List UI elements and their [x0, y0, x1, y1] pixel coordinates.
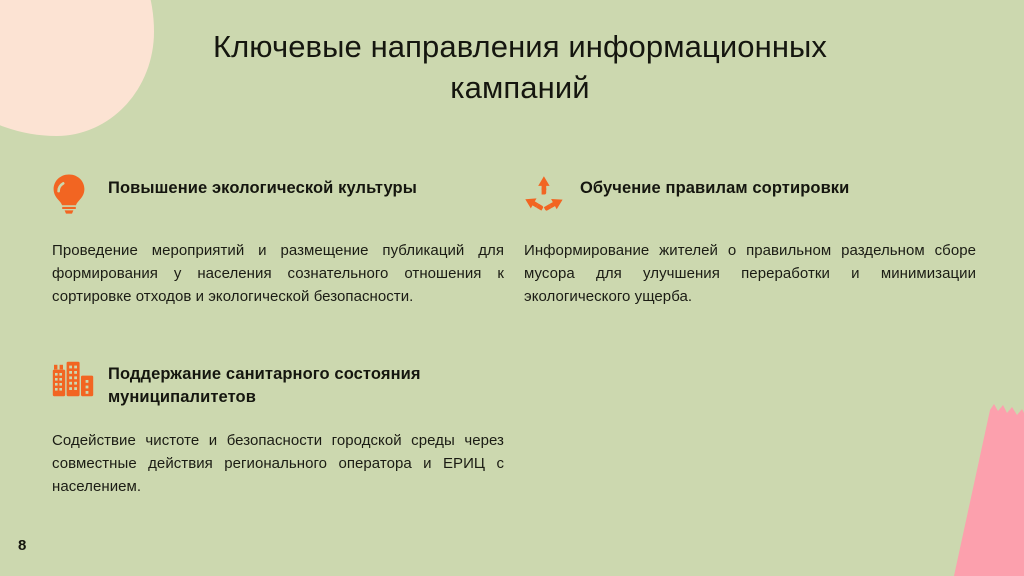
buildings-icon	[52, 356, 108, 404]
lightbulb-icon	[52, 170, 108, 218]
card-header: Обучение правилам сортировки	[524, 170, 976, 218]
recycle-icon	[524, 170, 580, 218]
page-title-line-2: кампаний	[152, 67, 888, 108]
cards-container: Повышение экологической культуры Проведе…	[0, 160, 1024, 540]
card-sorting-education: Обучение правилам сортировки Информирова…	[524, 170, 976, 309]
card-body: Информирование жителей о правильном разд…	[524, 240, 976, 309]
card-body: Содействие чистоте и безопасности городс…	[52, 430, 504, 499]
card-header: Поддержание санитарного состояния муници…	[52, 356, 504, 410]
card-body: Проведение мероприятий и размещение публ…	[52, 240, 504, 309]
page-title: Ключевые направления информационных камп…	[152, 26, 888, 108]
page-title-line-1: Ключевые направления информационных	[152, 26, 888, 67]
slide-canvas: Ключевые направления информационных камп…	[0, 0, 1024, 576]
card-municipal-sanitation: Поддержание санитарного состояния муници…	[52, 356, 504, 499]
peach-blob	[0, 0, 154, 136]
card-ecological-culture: Повышение экологической культуры Проведе…	[52, 170, 504, 309]
card-title: Повышение экологической культуры	[108, 170, 504, 200]
card-title: Поддержание санитарного состояния муници…	[108, 356, 504, 410]
page-number: 8	[18, 537, 26, 554]
card-title: Обучение правилам сортировки	[580, 170, 976, 200]
card-header: Повышение экологической культуры	[52, 170, 504, 218]
